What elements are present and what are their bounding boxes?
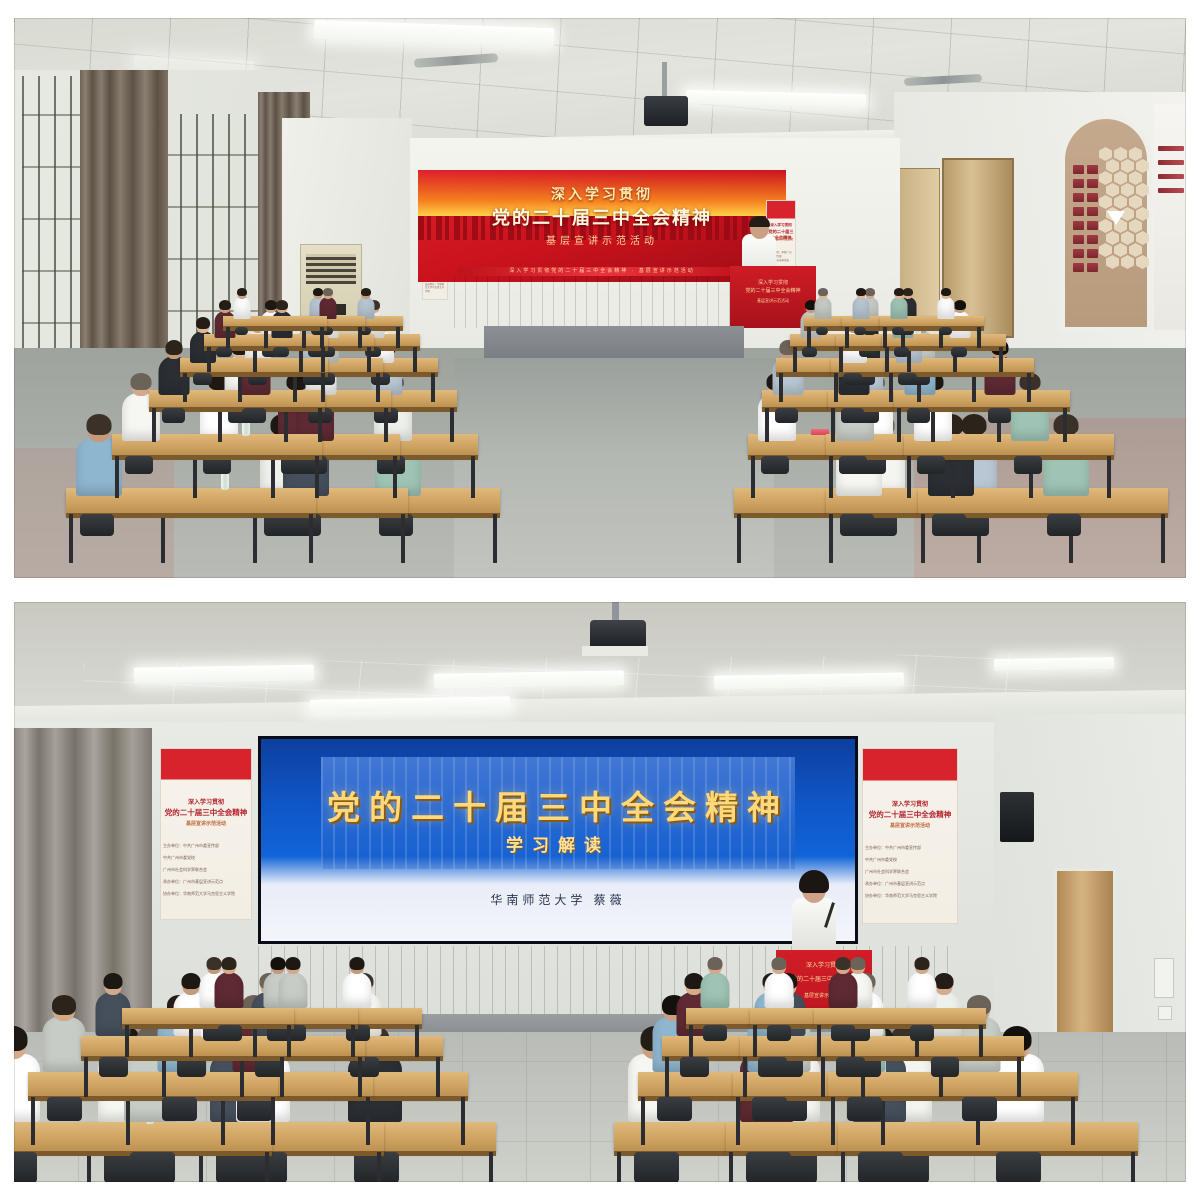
- desk-leg: [287, 1025, 291, 1057]
- attendee-hair: [954, 300, 966, 310]
- chair: [840, 514, 874, 536]
- desk-leg: [84, 1057, 88, 1097]
- hexagon-tile: [1136, 207, 1149, 221]
- chair: [162, 408, 185, 423]
- desk-leg: [271, 1097, 275, 1145]
- chair: [216, 347, 232, 357]
- desk-leg: [1063, 408, 1067, 442]
- chair: [898, 373, 917, 385]
- ceiling-light: [994, 657, 1114, 671]
- plaque-tile: [1073, 193, 1084, 202]
- projector-mount: [662, 62, 667, 100]
- chair: [746, 1152, 791, 1182]
- desk-leg: [831, 1097, 835, 1145]
- door[interactable]: [1054, 868, 1116, 1058]
- attendee-torso: [215, 972, 244, 1008]
- desk-leg: [829, 514, 833, 563]
- chair: [932, 514, 966, 536]
- desk-leg: [431, 373, 435, 402]
- projector-icon: [644, 96, 688, 126]
- photo-bottom[interactable]: 深入学习贯彻 党的二十届三中全会精神 基层宣讲示范活动 主办单位：中共广州市委宣…: [14, 602, 1186, 1182]
- chair: [767, 1025, 791, 1041]
- desk-leg: [907, 456, 911, 498]
- hexagon-tile: [1099, 147, 1112, 161]
- attendee-hair: [914, 957, 929, 970]
- desk-leg: [1017, 1057, 1021, 1097]
- chair: [939, 327, 952, 335]
- desk-leg: [665, 1057, 669, 1097]
- attendee-torso: [907, 972, 936, 1008]
- chair: [907, 408, 930, 423]
- chair: [894, 347, 910, 357]
- desk-leg: [1131, 1152, 1135, 1182]
- attendee: [907, 958, 936, 1010]
- attendee-hair: [707, 957, 722, 970]
- chair: [931, 1057, 960, 1077]
- desk-leg: [125, 1025, 129, 1057]
- attendee-hair: [286, 957, 301, 970]
- attendee-hair: [181, 973, 200, 989]
- hexagon-tile: [1106, 159, 1119, 173]
- attendee: [233, 289, 250, 321]
- chair: [802, 347, 818, 357]
- attendee-torso: [852, 297, 869, 319]
- chair: [14, 1152, 37, 1182]
- attendee-torso: [938, 297, 955, 319]
- hexagon-tile: [1129, 171, 1142, 185]
- desk-leg: [972, 373, 976, 402]
- desk-leg: [921, 514, 925, 563]
- speaker-hair: [749, 216, 770, 227]
- desk-leg: [367, 347, 371, 372]
- desk-leg: [152, 408, 156, 442]
- desk-leg: [617, 1152, 621, 1182]
- honeycomb-display-board: [1060, 114, 1152, 332]
- desk-leg: [737, 514, 741, 563]
- plaque-tile: [1073, 263, 1084, 272]
- chair: [193, 373, 212, 385]
- chair: [962, 1097, 998, 1121]
- ceiling-light: [134, 664, 314, 683]
- hexagon-tile: [1136, 231, 1149, 245]
- chair: [996, 1152, 1041, 1182]
- desk-leg: [401, 514, 405, 563]
- desk-leg: [351, 1025, 355, 1057]
- chair: [80, 514, 114, 536]
- desk-leg: [793, 347, 797, 372]
- desk-leg: [413, 347, 417, 372]
- air-conditioner-vent: [306, 254, 356, 284]
- lectern-text-3: 基层宣讲示范活动: [736, 298, 810, 304]
- desk-leg: [951, 456, 955, 498]
- plaque-tile: [1073, 249, 1084, 258]
- chair: [839, 456, 867, 474]
- attendee: [890, 289, 907, 321]
- desk-leg: [315, 456, 319, 498]
- slide-presenter: 华南师范大学 蔡薇: [261, 891, 855, 908]
- desk-leg: [115, 456, 119, 498]
- attendee: [343, 958, 372, 1010]
- desk-leg: [193, 456, 197, 498]
- stage-wood-panel: [454, 276, 754, 328]
- attendee-hair: [350, 957, 365, 970]
- chair: [831, 1025, 855, 1041]
- slide: 党的二十届三中全会精神 学习解读 华南师范大学 蔡薇: [261, 739, 855, 941]
- power-outlet[interactable]: [1158, 1006, 1172, 1020]
- desk-leg: [817, 1025, 821, 1057]
- chair: [47, 1097, 83, 1121]
- desk-leg: [415, 1025, 419, 1057]
- chair: [752, 1097, 788, 1121]
- info-poster: [1154, 104, 1186, 330]
- attendee-torso: [279, 972, 308, 1008]
- hexagon-tile: [1114, 171, 1127, 185]
- desk-leg: [309, 514, 313, 563]
- desk-leg: [162, 1057, 166, 1097]
- chair: [99, 1057, 128, 1077]
- attendee-hair: [835, 957, 850, 970]
- desk-leg: [743, 1057, 747, 1097]
- desk-leg: [751, 456, 755, 498]
- photo-collage: 深入学习贯彻 党的二十届三中全会精神 基层宣讲示范活动 主办单位：中共广州市委宣…: [0, 0, 1200, 1200]
- desk-leg: [1107, 456, 1111, 498]
- banner-line-1: 深入学习贯彻: [418, 184, 786, 204]
- projector-plate: [582, 646, 648, 656]
- desk-leg: [821, 1057, 825, 1097]
- desk-leg: [931, 408, 935, 442]
- arrow-down-icon: [1107, 211, 1125, 225]
- attendee-hair: [130, 373, 151, 390]
- chair: [218, 1025, 242, 1041]
- chair: [125, 456, 153, 474]
- desk-leg: [318, 408, 322, 442]
- desk-leg: [753, 1025, 757, 1057]
- plaque-tile: [1087, 165, 1098, 174]
- desk-leg: [831, 408, 835, 442]
- desk-leg: [161, 514, 165, 563]
- desk-leg: [885, 347, 889, 372]
- hexagon-tile: [1129, 195, 1142, 209]
- chair: [816, 327, 829, 335]
- banner-line-3: 基层宣讲示范活动: [418, 232, 786, 247]
- attendee: [938, 289, 955, 321]
- desk-leg: [493, 514, 497, 563]
- desk-leg: [358, 327, 362, 348]
- attendee-hair: [14, 1026, 28, 1051]
- desk-leg: [834, 373, 838, 402]
- plaque-tile: [1073, 179, 1084, 188]
- desk-leg: [293, 373, 297, 402]
- attendee: [279, 958, 308, 1010]
- desk-leg: [641, 1097, 645, 1145]
- desk: [814, 1008, 986, 1025]
- hexagon-tile: [1114, 195, 1127, 209]
- attendee-hair: [196, 317, 210, 329]
- attendee-torso: [700, 972, 729, 1008]
- desk-leg: [450, 408, 454, 442]
- attendee-torso: [42, 1017, 85, 1072]
- attendee-torso: [890, 297, 907, 319]
- chair: [761, 456, 789, 474]
- desk-leg: [897, 408, 901, 442]
- attendee-torso: [764, 972, 793, 1008]
- water-bottle: [242, 421, 250, 436]
- window: [22, 76, 84, 376]
- hexagon-tile: [1099, 195, 1112, 209]
- attendee: [764, 958, 793, 1010]
- desk-leg: [689, 1025, 693, 1057]
- desk-leg: [221, 1097, 225, 1145]
- plaque-tile: [1073, 207, 1084, 216]
- desk-leg: [321, 347, 325, 372]
- hexagon-tile: [1106, 255, 1119, 269]
- desk-leg: [189, 1025, 193, 1057]
- desk-leg: [779, 373, 783, 402]
- chair: [703, 1025, 727, 1041]
- chair: [843, 373, 862, 385]
- desk: [122, 1008, 294, 1025]
- desk-leg: [238, 373, 242, 402]
- desk-leg: [489, 1152, 493, 1182]
- chair: [235, 327, 248, 335]
- hexagon-tile: [1121, 159, 1134, 173]
- chair: [917, 456, 945, 474]
- desk-leg: [69, 514, 73, 563]
- curtain: [80, 70, 168, 392]
- attendee-hair: [323, 288, 333, 296]
- side-poster-right: 深入学习贯彻 党的二十届三中全会精神 基层宣讲示范活动 主办单位：中共广州市委宣…: [862, 748, 958, 924]
- hexagon-tile: [1129, 243, 1142, 257]
- projection-screen: 党的二十届三中全会精神 学习解读 华南师范大学 蔡薇: [258, 736, 858, 944]
- desk-leg: [471, 456, 475, 498]
- desk-leg: [358, 1057, 362, 1097]
- hexagon-tile: [1121, 183, 1134, 197]
- chair: [680, 1057, 709, 1077]
- desk-leg: [839, 347, 843, 372]
- chair: [775, 408, 798, 423]
- desk-leg: [226, 327, 230, 348]
- attendee: [814, 289, 831, 321]
- plaque-tile: [1073, 235, 1084, 244]
- attendee-torso: [814, 297, 831, 319]
- desk-leg: [999, 347, 1003, 372]
- lectern-text-1: 深入学习贯彻: [736, 280, 810, 288]
- hexagon-tile: [1136, 183, 1149, 197]
- side-poster-left: 深入学习贯彻 党的二十届三中全会精神 基层宣讲示范活动 主办单位：中共广州市委宣…: [160, 748, 252, 920]
- chair: [758, 1057, 787, 1077]
- attendee-hair: [219, 300, 231, 310]
- chair: [1047, 514, 1081, 536]
- attendee-hair: [276, 300, 288, 310]
- plaque-tile: [1073, 221, 1084, 230]
- desk-leg: [979, 1025, 983, 1057]
- desk-leg: [253, 514, 257, 563]
- attendee-hair: [935, 973, 954, 989]
- attendee-hair: [222, 957, 237, 970]
- desk-leg: [31, 1097, 35, 1145]
- chair: [892, 327, 905, 335]
- desk-leg: [207, 347, 211, 372]
- attendee-torso: [343, 972, 372, 1008]
- desk-leg: [765, 408, 769, 442]
- hexagon-tile: [1114, 147, 1127, 161]
- attendee-hair: [818, 288, 828, 296]
- hexagon-tile: [1129, 219, 1142, 233]
- desk-leg: [366, 1097, 370, 1145]
- desk-leg: [1027, 373, 1031, 402]
- desk-leg: [253, 1025, 257, 1057]
- desk-leg: [841, 1152, 845, 1182]
- chair: [130, 1152, 175, 1182]
- banner-line-2: 党的二十届三中全会精神: [418, 204, 786, 230]
- chair: [910, 1025, 934, 1041]
- chair: [1014, 456, 1042, 474]
- desk-leg: [461, 1097, 465, 1145]
- desk-leg: [845, 327, 849, 348]
- plaque-tile: [1087, 179, 1098, 188]
- banner-organizer-strip: 深入学习贯彻党的二十届三中全会精神 · 基层宣讲示范活动: [458, 267, 746, 276]
- hexagon-tile: [1099, 171, 1112, 185]
- attendee-hair: [856, 288, 866, 296]
- attendee-hair: [52, 995, 76, 1015]
- desk-edge: [122, 1024, 294, 1029]
- attendee-hair: [941, 288, 951, 296]
- desk-leg: [271, 456, 275, 498]
- hexagon-tile: [1129, 147, 1142, 161]
- chair: [854, 327, 867, 335]
- hexagon-tile: [1136, 159, 1149, 173]
- attendee-torso: [828, 972, 857, 1008]
- desk-leg: [376, 373, 380, 402]
- hexagon-tile: [1136, 255, 1149, 269]
- hexagon-tile: [1099, 243, 1112, 257]
- desk-leg: [1161, 514, 1165, 563]
- hexagon-tile: [1114, 243, 1127, 257]
- light-switch[interactable]: [1154, 958, 1174, 998]
- plaque-tile: [1087, 207, 1098, 216]
- wall-speaker-icon: [1000, 792, 1034, 842]
- attendee-hair: [894, 288, 904, 296]
- desk-leg: [736, 1097, 740, 1145]
- desk-leg: [126, 1097, 130, 1145]
- slide-subtitle: 学习解读: [261, 831, 855, 856]
- plaque-tile: [1073, 165, 1084, 174]
- attendee-hair: [771, 957, 786, 970]
- hexagon-tile: [1121, 255, 1134, 269]
- attendee: [215, 958, 244, 1010]
- desk-leg: [280, 1057, 284, 1097]
- attendee-hair: [237, 288, 247, 296]
- plaque-tile: [1087, 193, 1098, 202]
- photo-top[interactable]: 深入学习贯彻 党的二十届三中全会精神 基层宣讲示范活动 主办单位：中共广州市委宣…: [14, 18, 1186, 578]
- hexagon-tile: [1106, 183, 1119, 197]
- attendee-hair: [103, 973, 122, 989]
- slide-title: 党的二十届三中全会精神: [261, 781, 855, 829]
- attendee: [828, 958, 857, 1010]
- hexagon-tile: [1121, 231, 1134, 245]
- desk-leg: [889, 373, 893, 402]
- plaque-tile: [1087, 249, 1098, 258]
- desk-leg: [218, 408, 222, 442]
- desk-leg: [183, 373, 187, 402]
- desk-leg: [436, 1057, 440, 1097]
- desk-leg: [883, 327, 887, 348]
- desk-leg: [393, 456, 397, 498]
- chair: [988, 408, 1011, 423]
- desk-leg: [829, 456, 833, 498]
- desk-leg: [199, 1152, 203, 1182]
- lectern-text-2: 党的二十届三中全会精神: [736, 288, 810, 296]
- attendee: [700, 958, 729, 1010]
- chair: [273, 347, 289, 357]
- desk-leg: [320, 327, 324, 348]
- desk-leg: [384, 408, 388, 442]
- lecturer-hair: [799, 870, 829, 893]
- desk-leg: [377, 1152, 381, 1182]
- desk-leg: [977, 327, 981, 348]
- plaque-tile: [1087, 235, 1098, 244]
- chair: [634, 1152, 679, 1182]
- desk-leg: [807, 327, 811, 348]
- chair: [858, 1152, 903, 1182]
- plaque-tile: [1087, 263, 1098, 272]
- desk-leg: [284, 408, 288, 442]
- chair: [951, 347, 967, 357]
- desk-leg: [240, 1057, 244, 1097]
- attendee: [42, 997, 85, 1076]
- desk-leg: [1071, 1097, 1075, 1145]
- chair: [657, 1097, 693, 1121]
- attendee: [852, 289, 869, 321]
- chair: [847, 1097, 883, 1121]
- attendee-hair: [86, 414, 111, 435]
- desk-leg: [396, 327, 400, 348]
- attendee-hair: [361, 288, 371, 296]
- attendee-torso: [233, 297, 250, 319]
- chair: [836, 1057, 865, 1077]
- chair: [841, 408, 864, 423]
- attendee-hair: [166, 340, 183, 355]
- water-bottle: [221, 472, 229, 490]
- desk-leg: [729, 1152, 733, 1182]
- desk-leg: [321, 373, 325, 402]
- desk-leg: [87, 1152, 91, 1182]
- hexagon-tile: [1106, 231, 1119, 245]
- chair: [242, 408, 265, 423]
- center-aisle: [454, 358, 774, 578]
- chair: [162, 1097, 198, 1121]
- plaque-tile: [1087, 221, 1098, 230]
- desk-leg: [265, 1152, 269, 1182]
